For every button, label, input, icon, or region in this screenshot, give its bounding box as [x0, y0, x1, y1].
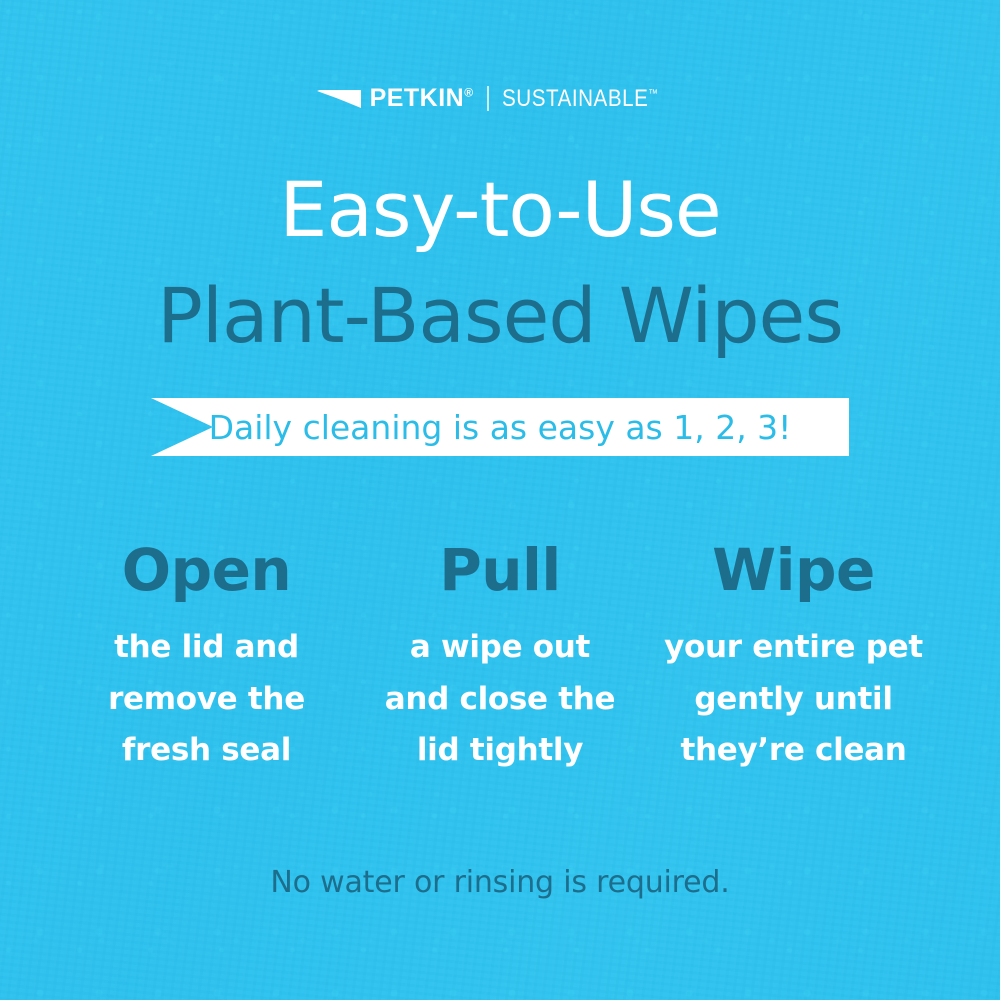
step-body: a wipe out and close the lid tightly	[354, 622, 647, 776]
steps-row: Open the lid and remove the fresh seal P…	[60, 540, 940, 777]
step-body-line: remove the	[60, 674, 353, 725]
step-body-line: the lid and	[60, 622, 353, 673]
step-body-line: gently until	[647, 674, 940, 725]
step-pull: Pull a wipe out and close the lid tightl…	[354, 540, 647, 777]
footer-note: No water or rinsing is required.	[0, 868, 1000, 898]
step-body-line: your entire pet	[647, 622, 940, 673]
brand-divider	[487, 86, 489, 111]
brand-sub-text: SUSTAINABLE	[502, 85, 648, 112]
step-wipe: Wipe your entire pet gently until they’r…	[647, 540, 940, 777]
step-body: your entire pet gently until they’re cle…	[647, 622, 940, 776]
brand-name-text: PETKIN	[370, 84, 465, 112]
poster-content: PETKIN® SUSTAINABLE™ Easy-to-Use Plant-B…	[0, 0, 1000, 1000]
step-body-line: and close the	[354, 674, 647, 725]
step-body-line: lid tightly	[354, 725, 647, 776]
ribbon-banner: Daily cleaning is as easy as 1, 2, 3!	[151, 398, 849, 456]
trademark-mark: ™	[648, 88, 658, 100]
petkin-swoosh-icon	[317, 88, 361, 110]
step-title: Open	[60, 540, 353, 600]
ribbon-banner-text: Daily cleaning is as easy as 1, 2, 3!	[209, 411, 792, 444]
step-body: the lid and remove the fresh seal	[60, 622, 353, 776]
step-open: Open the lid and remove the fresh seal	[60, 540, 353, 777]
step-title: Pull	[354, 540, 647, 600]
step-body-line: fresh seal	[60, 725, 353, 776]
headline-line-1: Easy-to-Use	[0, 172, 1000, 248]
brand-sub-lockup: SUSTAINABLE™	[502, 87, 658, 111]
step-body-line: they’re clean	[647, 725, 940, 776]
product-infographic-poster: PETKIN® SUSTAINABLE™ Easy-to-Use Plant-B…	[0, 0, 1000, 1000]
step-title: Wipe	[647, 540, 940, 600]
brand-lockup: PETKIN® SUSTAINABLE™	[0, 86, 1000, 111]
registered-mark: ®	[464, 86, 473, 100]
headline-line-2: Plant-Based Wipes	[0, 278, 1000, 354]
brand-name: PETKIN®	[370, 86, 474, 111]
step-body-line: a wipe out	[354, 622, 647, 673]
